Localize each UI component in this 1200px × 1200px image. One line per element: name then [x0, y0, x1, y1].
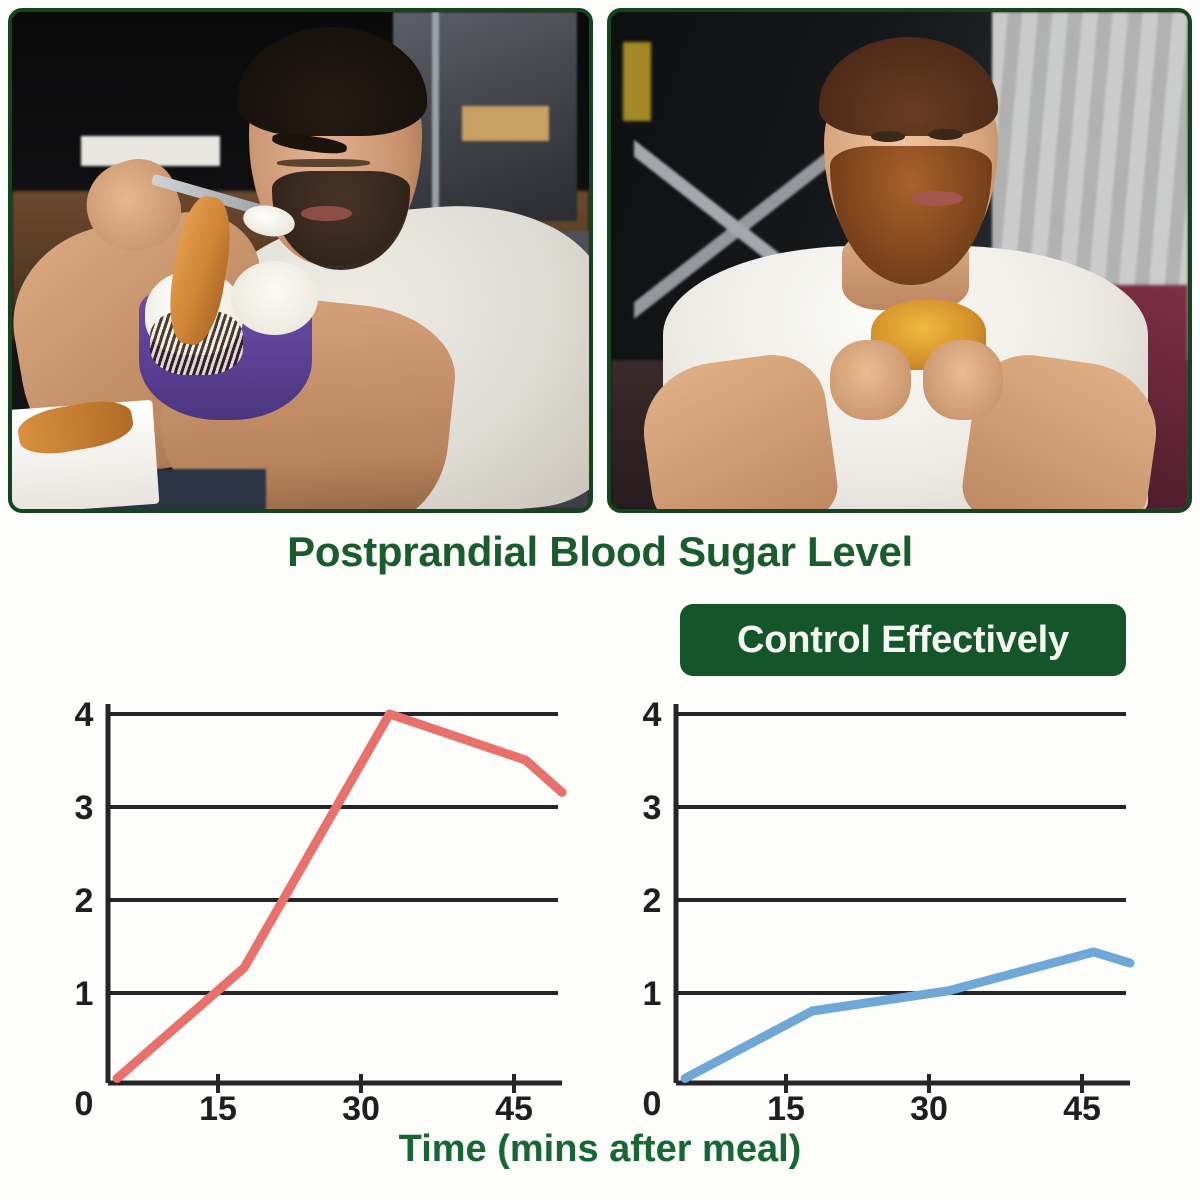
photo1-book [462, 106, 549, 141]
x-tick-30: 30 [910, 1090, 948, 1120]
y-tick-1: 1 [75, 975, 94, 1013]
photo1-whipped-cream-2 [231, 261, 318, 336]
photo-bearded-man-eating-burger [607, 8, 1192, 513]
photo-row [8, 8, 1192, 513]
gridlines [676, 714, 1126, 993]
data-line-uncontrolled [117, 714, 562, 1078]
photo1-window-frame [432, 12, 439, 211]
y-tick-1: 1 [643, 975, 662, 1013]
control-effectively-badge: Control Effectively [680, 604, 1126, 676]
y-tick-labels: 4 3 2 1 0 [75, 696, 94, 1120]
chart-uncontrolled-svg: 4 3 2 1 0 15 30 45 [40, 690, 570, 1120]
page-title: Postprandial Blood Sugar Level [0, 528, 1200, 576]
gridlines [108, 714, 558, 993]
y-tick-0: 0 [643, 1085, 662, 1120]
photo1-eyes [277, 159, 369, 167]
y-tick-labels: 4 3 2 1 0 [643, 696, 662, 1120]
photo-man-eating-dessert [8, 8, 593, 513]
x-tick-15: 15 [767, 1090, 805, 1120]
x-axis-label: Time (mins after meal) [0, 1128, 1200, 1171]
x-tick-30: 30 [342, 1090, 380, 1120]
x-tick-45: 45 [1063, 1090, 1101, 1120]
x-tick-labels: 15 30 45 [199, 1090, 533, 1120]
chart-controlled: 4 3 2 1 0 15 30 45 [608, 690, 1138, 1120]
x-tick-45: 45 [495, 1090, 533, 1120]
x-tick-15: 15 [199, 1090, 237, 1120]
y-tick-0: 0 [75, 1085, 94, 1120]
y-tick-4: 4 [75, 696, 94, 734]
page-root: Postprandial Blood Sugar Level Control E… [0, 0, 1200, 1200]
y-tick-2: 2 [643, 882, 662, 920]
chart-controlled-svg: 4 3 2 1 0 15 30 45 [608, 690, 1138, 1120]
y-tick-3: 3 [643, 789, 662, 827]
data-line-controlled [685, 952, 1130, 1078]
chart-uncontrolled: 4 3 2 1 0 15 30 45 [40, 690, 570, 1120]
photo2-right-hand [923, 340, 1004, 420]
x-tick-labels: 15 30 45 [767, 1090, 1101, 1120]
y-tick-3: 3 [75, 789, 94, 827]
y-tick-2: 2 [75, 882, 94, 920]
photo2-right-eye [928, 129, 963, 140]
photo2-mouth [911, 191, 963, 206]
photo2-left-hand [830, 340, 911, 420]
badge-label: Control Effectively [737, 619, 1069, 662]
photo1-mouth [301, 206, 353, 221]
y-tick-4: 4 [643, 696, 662, 734]
